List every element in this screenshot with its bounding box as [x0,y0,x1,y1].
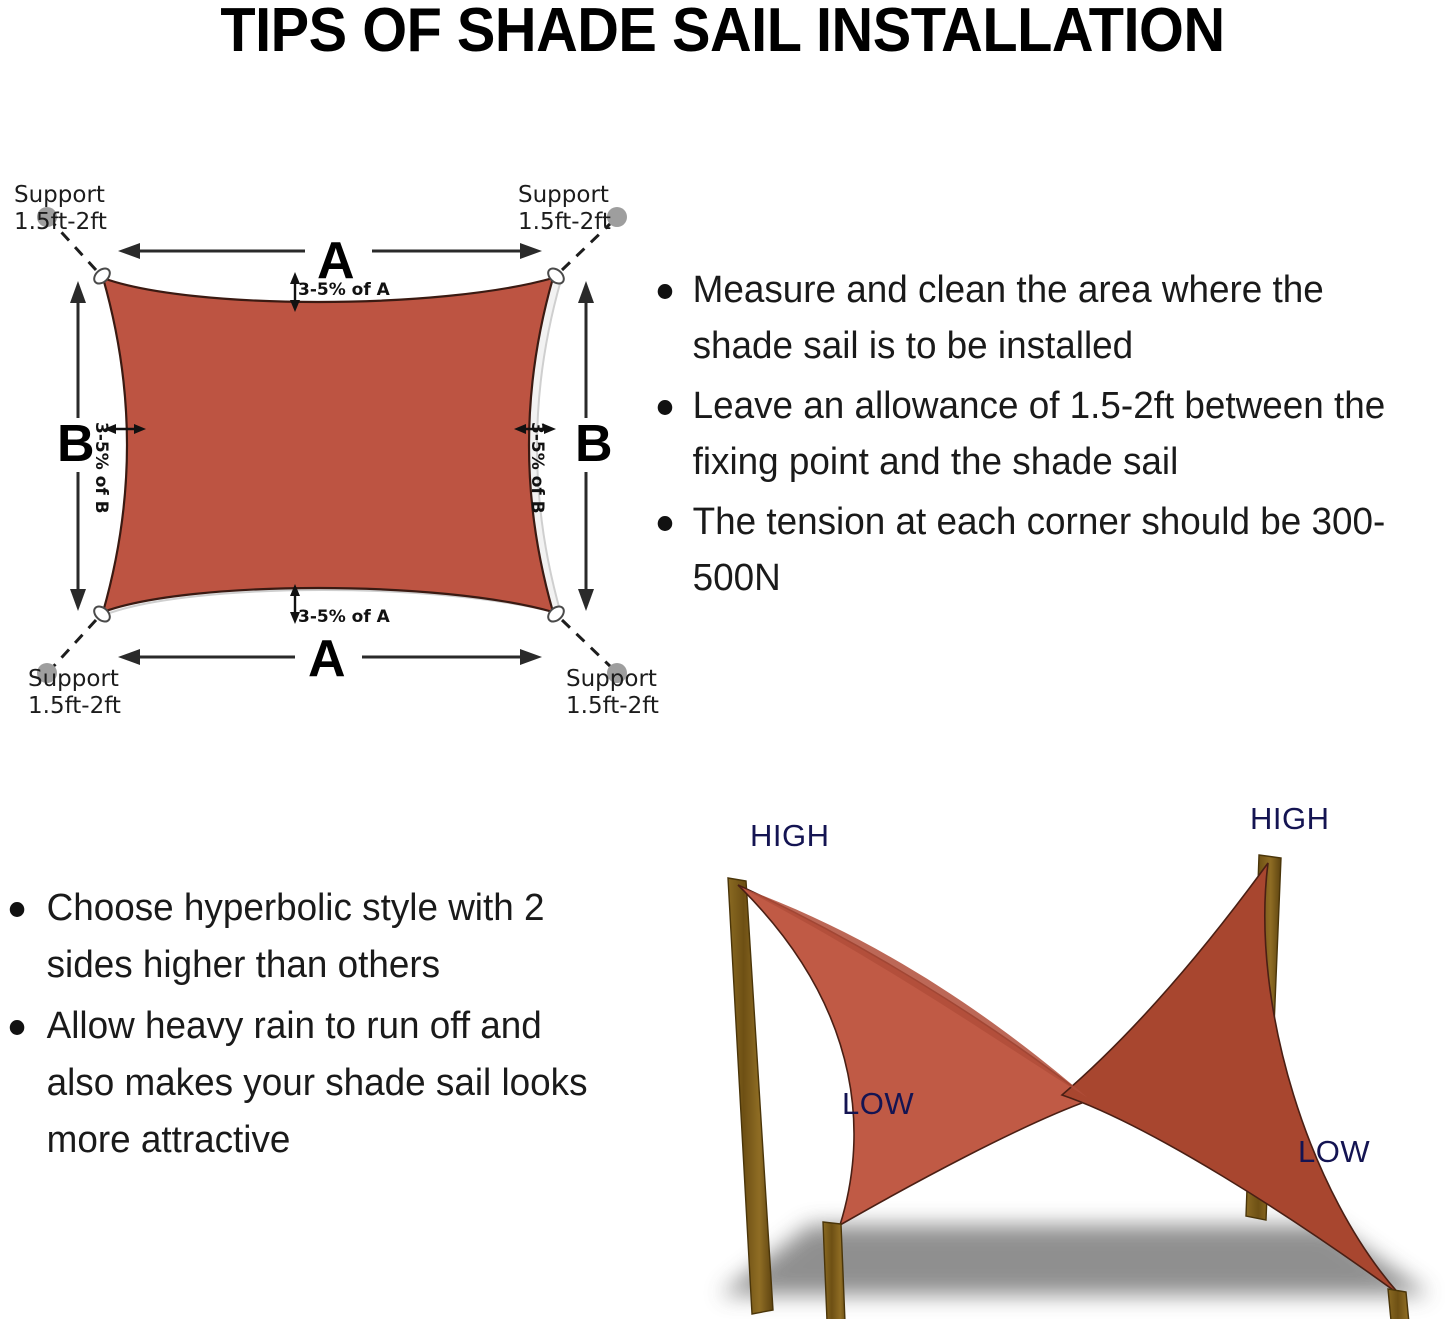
label-high-right: HIGH [1250,802,1330,835]
dimension-letter-b-right: B [575,418,613,470]
bullet-dot-icon [10,902,25,917]
support-label-line2: 1.5ft-2ft [518,209,611,236]
label-low-right: LOW [1298,1135,1370,1168]
page-title: TIPS OF SHADE SAIL INSTALLATION [51,0,1395,64]
list-item: Allow heavy rain to run off and also mak… [2,998,603,1169]
support-label-bottom-left: Support 1.5ft-2ft [28,666,121,720]
curve-depth-label-a-bottom: 3-5% of A [298,608,390,627]
list-item-text: Allow heavy rain to run off and also mak… [47,1005,588,1161]
support-label-line1: Support [14,182,107,209]
tips-right-list: Measure and clean the area where the sha… [648,262,1445,606]
support-label-line2: 1.5ft-2ft [566,693,659,720]
support-label-line1: Support [566,666,659,693]
installation-tips-left-panel: Choose hyperbolic style with 2 sides hig… [2,880,622,1173]
list-item: Leave an allowance of 1.5-2ft between th… [648,378,1424,490]
label-low-left: LOW [842,1087,914,1120]
support-label-line1: Support [518,182,611,209]
list-item: Choose hyperbolic style with 2 sides hig… [2,880,603,994]
curve-depth-label-a-top: 3-5% of A [298,281,390,300]
support-label-line2: 1.5ft-2ft [14,209,107,236]
bullet-dot-icon [658,516,673,531]
list-item-text: Choose hyperbolic style with 2 sides hig… [47,887,545,986]
list-item-text: Leave an allowance of 1.5-2ft between th… [693,385,1386,483]
label-high-left: HIGH [750,819,830,852]
hyperbolic-sail-scene: HIGH HIGH LOW LOW [690,795,1445,1319]
tips-left-list: Choose hyperbolic style with 2 sides hig… [2,880,622,1169]
curve-depth-label-b-left: 3-5% of B [91,422,110,514]
curve-depth-label-b-right: 3-5% of B [527,422,546,514]
support-label-top-left: Support 1.5ft-2ft [14,182,107,236]
support-label-bottom-right: Support 1.5ft-2ft [566,666,659,720]
bullet-dot-icon [10,1020,25,1035]
post-high-left [728,878,773,1314]
hyperbolic-sail-graphic [690,795,1445,1319]
support-label-line2: 1.5ft-2ft [28,693,121,720]
list-item: The tension at each corner should be 300… [648,494,1424,606]
sail-fabric-shape [103,278,553,612]
dimension-letter-b-left: B [57,418,95,470]
rectangular-sail-diagram: Support 1.5ft-2ft Support 1.5ft-2ft Supp… [0,160,660,730]
list-item-text: The tension at each corner should be 300… [693,501,1386,599]
bullet-dot-icon [658,284,673,299]
sail-lobe-left [738,885,1090,1225]
list-item: Measure and clean the area where the sha… [648,262,1424,374]
support-label-top-right: Support 1.5ft-2ft [518,182,611,236]
bullet-dot-icon [658,400,673,415]
dimension-letter-a-bottom: A [308,633,346,685]
support-label-line1: Support [28,666,121,693]
installation-tips-right-panel: Measure and clean the area where the sha… [648,262,1445,610]
list-item-text: Measure and clean the area where the sha… [693,269,1324,367]
